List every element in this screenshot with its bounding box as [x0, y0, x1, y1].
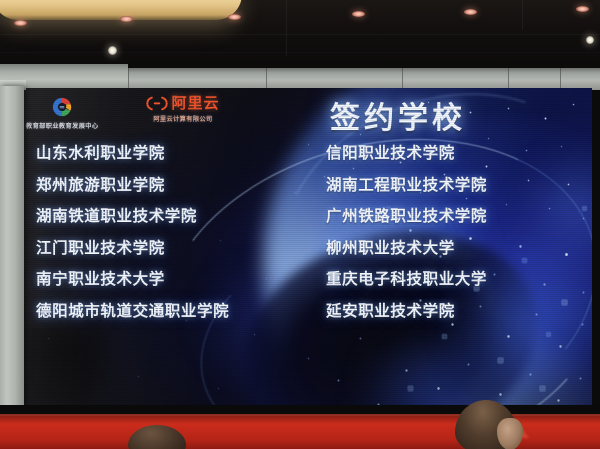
ceiling-spotlight-icon [464, 9, 477, 15]
wall-right-edge [592, 90, 600, 414]
seated-person-right-face [497, 418, 523, 449]
wall-band-joint [128, 68, 129, 90]
alibaba-cloud-name: 阿里云 [171, 96, 219, 111]
ceiling-spotlight-icon [586, 36, 594, 44]
logo-alibaba-caption: 阿里云计算有限公司 [153, 114, 212, 123]
school-name: 湖南铁道职业技术学院 [36, 209, 229, 225]
wall-band-joint [402, 68, 403, 90]
logo-ministry-vocational-education: 教育部职业教育发展中心 [26, 96, 98, 130]
school-name: 柳州职业技术大学 [326, 241, 487, 257]
school-name: 德阳城市轨道交通职业学院 [36, 304, 229, 320]
school-name: 山东水利职业学院 [36, 146, 229, 162]
school-name: 湖南工程职业技术学院 [326, 178, 487, 194]
ceiling-seam [0, 34, 600, 35]
school-name: 信阳职业技术学院 [326, 146, 487, 162]
ceiling-seam [522, 0, 523, 30]
photo-scene: 教育部职业教育发展中心 阿里云 阿里云计算有限公司 签约学校 [0, 0, 600, 449]
ceiling-spotlight-icon [120, 16, 133, 22]
school-name: 郑州旅游职业学院 [36, 178, 229, 194]
alibaba-cloud-wordmark: 阿里云 [146, 96, 219, 111]
ceiling-spotlight-icon [108, 46, 117, 55]
school-name: 江门职业技术学院 [36, 241, 229, 257]
school-column-left: 山东水利职业学院 郑州旅游职业学院 湖南铁道职业技术学院 江门职业技术学院 南宁… [36, 146, 229, 335]
white-wall-pillar [0, 86, 24, 413]
wall-band-joint [560, 68, 561, 90]
wall-band-joint [508, 68, 509, 90]
ministry-vocational-education-logo-icon [51, 96, 73, 118]
ceiling-spotlight-icon [576, 6, 589, 12]
logo-alibaba-cloud: 阿里云 阿里云计算有限公司 [146, 96, 219, 123]
ceiling-spotlight-icon [228, 14, 241, 20]
stage-silhouette-shadow [22, 326, 108, 406]
ceiling [0, 0, 600, 72]
ceiling-spotlight-icon [14, 20, 27, 26]
wall-band-joint [266, 68, 267, 90]
screen-title: 签约学校 [330, 93, 466, 137]
alibaba-cloud-logo-icon [146, 96, 168, 111]
school-name: 广州铁路职业技术学院 [326, 209, 487, 225]
ceiling-seam [286, 0, 287, 56]
ceiling-spotlight-icon [352, 11, 365, 17]
logo-ministry-caption: 教育部职业教育发展中心 [26, 121, 98, 130]
led-screen: 教育部职业教育发展中心 阿里云 阿里云计算有限公司 签约学校 [8, 88, 592, 413]
school-column-right: 信阳职业技术学院 湖南工程职业技术学院 广州铁路职业技术学院 柳州职业技术大学 … [326, 146, 487, 335]
school-name: 重庆电子科技职业大学 [326, 272, 487, 288]
ceiling-seam [0, 52, 600, 53]
logo-row: 教育部职业教育发展中心 阿里云 阿里云计算有限公司 [26, 96, 219, 130]
school-name: 延安职业技术学院 [326, 304, 487, 320]
school-name: 南宁职业技术大学 [36, 272, 229, 288]
